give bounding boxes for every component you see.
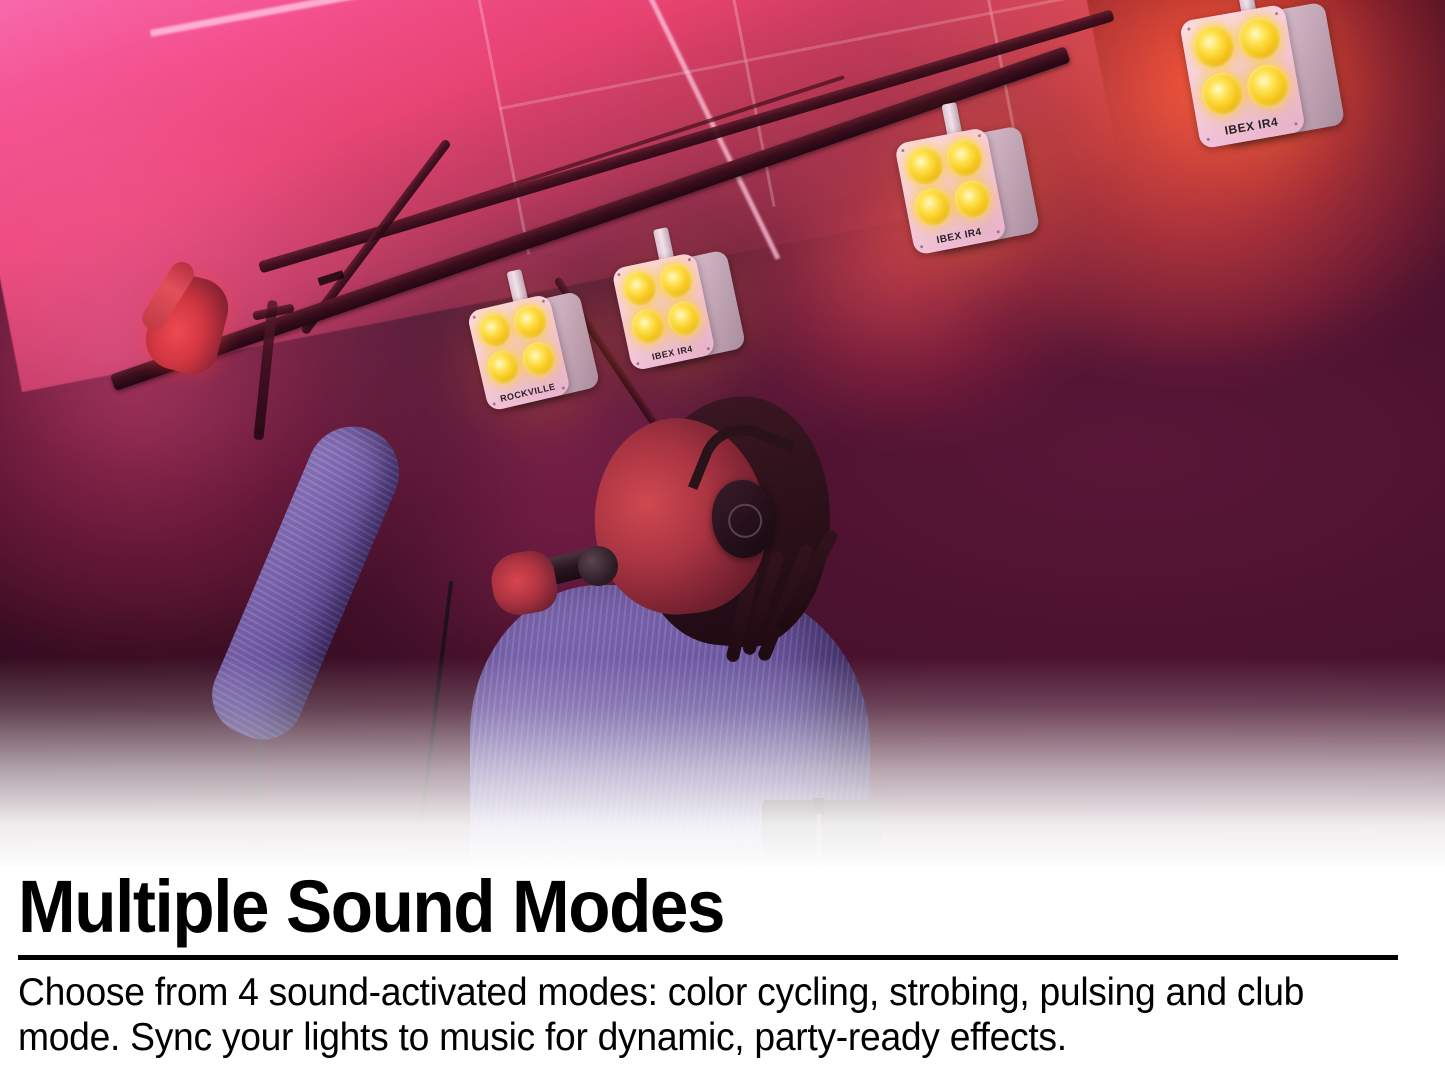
microphone-cable [419, 581, 453, 830]
feature-headline: Multiple Sound Modes [18, 868, 724, 946]
feature-callout-card: ROCKVILLE IBEX IR4 [0, 0, 1445, 1086]
performer [0, 0, 1445, 872]
feature-text-block: Multiple Sound Modes Choose from 4 sound… [0, 866, 1445, 1086]
hero-photo: ROCKVILLE IBEX IR4 [0, 0, 1445, 872]
headline-divider-rule [18, 955, 1398, 960]
dj-equipment-detail [814, 798, 824, 814]
performer-raised-arm [200, 412, 414, 752]
feature-description: Choose from 4 sound-activated modes: col… [18, 970, 1355, 1060]
